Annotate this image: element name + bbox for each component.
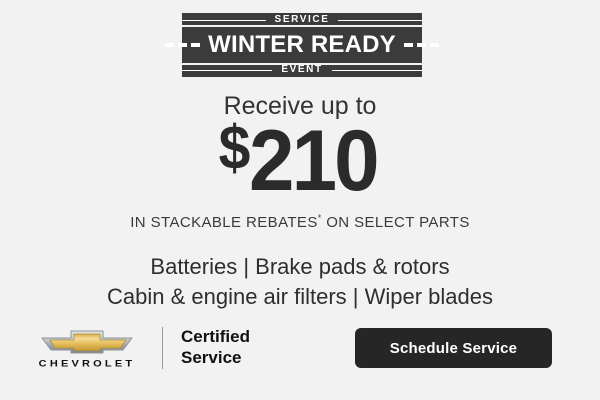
chevrolet-wordmark: CHEVROLET <box>39 359 136 368</box>
winter-ready-badge: SERVICE WINTER READY EVENT <box>182 13 422 77</box>
brand-divider <box>162 327 163 369</box>
eligible-parts-list: Batteries | Brake pads & rotors Cabin & … <box>0 252 600 313</box>
badge-service-line-right <box>338 20 422 21</box>
certified-service-label: Certified Service <box>181 327 250 368</box>
offer-amount: $210 <box>0 118 600 204</box>
promo-ad-container: SERVICE WINTER READY EVENT Receive up to… <box>0 0 600 400</box>
badge-title: WINTER READY <box>208 33 396 57</box>
badge-event-row: EVENT <box>182 63 422 77</box>
chevrolet-bowtie-icon <box>33 327 141 357</box>
badge-event-label: EVENT <box>272 65 331 75</box>
badge-service-line-left <box>182 20 266 21</box>
parts-line-2: Cabin & engine air filters | Wiper blade… <box>0 282 600 312</box>
rebates-text: IN STACKABLE REBATES <box>130 214 318 231</box>
badge-service-label: SERVICE <box>266 15 339 25</box>
certified-line-2: Service <box>181 348 250 369</box>
parts-line-1: Batteries | Brake pads & rotors <box>0 252 600 282</box>
badge-event-line-right <box>332 70 422 71</box>
badge-dashes-right <box>404 43 439 47</box>
certified-line-1: Certified <box>181 327 250 348</box>
badge-service-row: SERVICE <box>182 13 422 27</box>
badge-event-line-left <box>182 70 272 71</box>
badge-title-row: WINTER READY <box>182 29 422 61</box>
schedule-service-button[interactable]: Schedule Service <box>355 328 552 368</box>
chevrolet-lockup: CHEVROLET <box>32 327 142 370</box>
rebates-text-suffix: ON SELECT PARTS <box>322 214 470 231</box>
badge-dashes-left <box>165 43 200 47</box>
currency-symbol: $ <box>219 118 250 180</box>
brand-lockup: CHEVROLET Certified Service <box>32 320 250 376</box>
amount-value: 210 <box>249 118 377 204</box>
rebates-line: IN STACKABLE REBATES* ON SELECT PARTS <box>0 214 600 230</box>
